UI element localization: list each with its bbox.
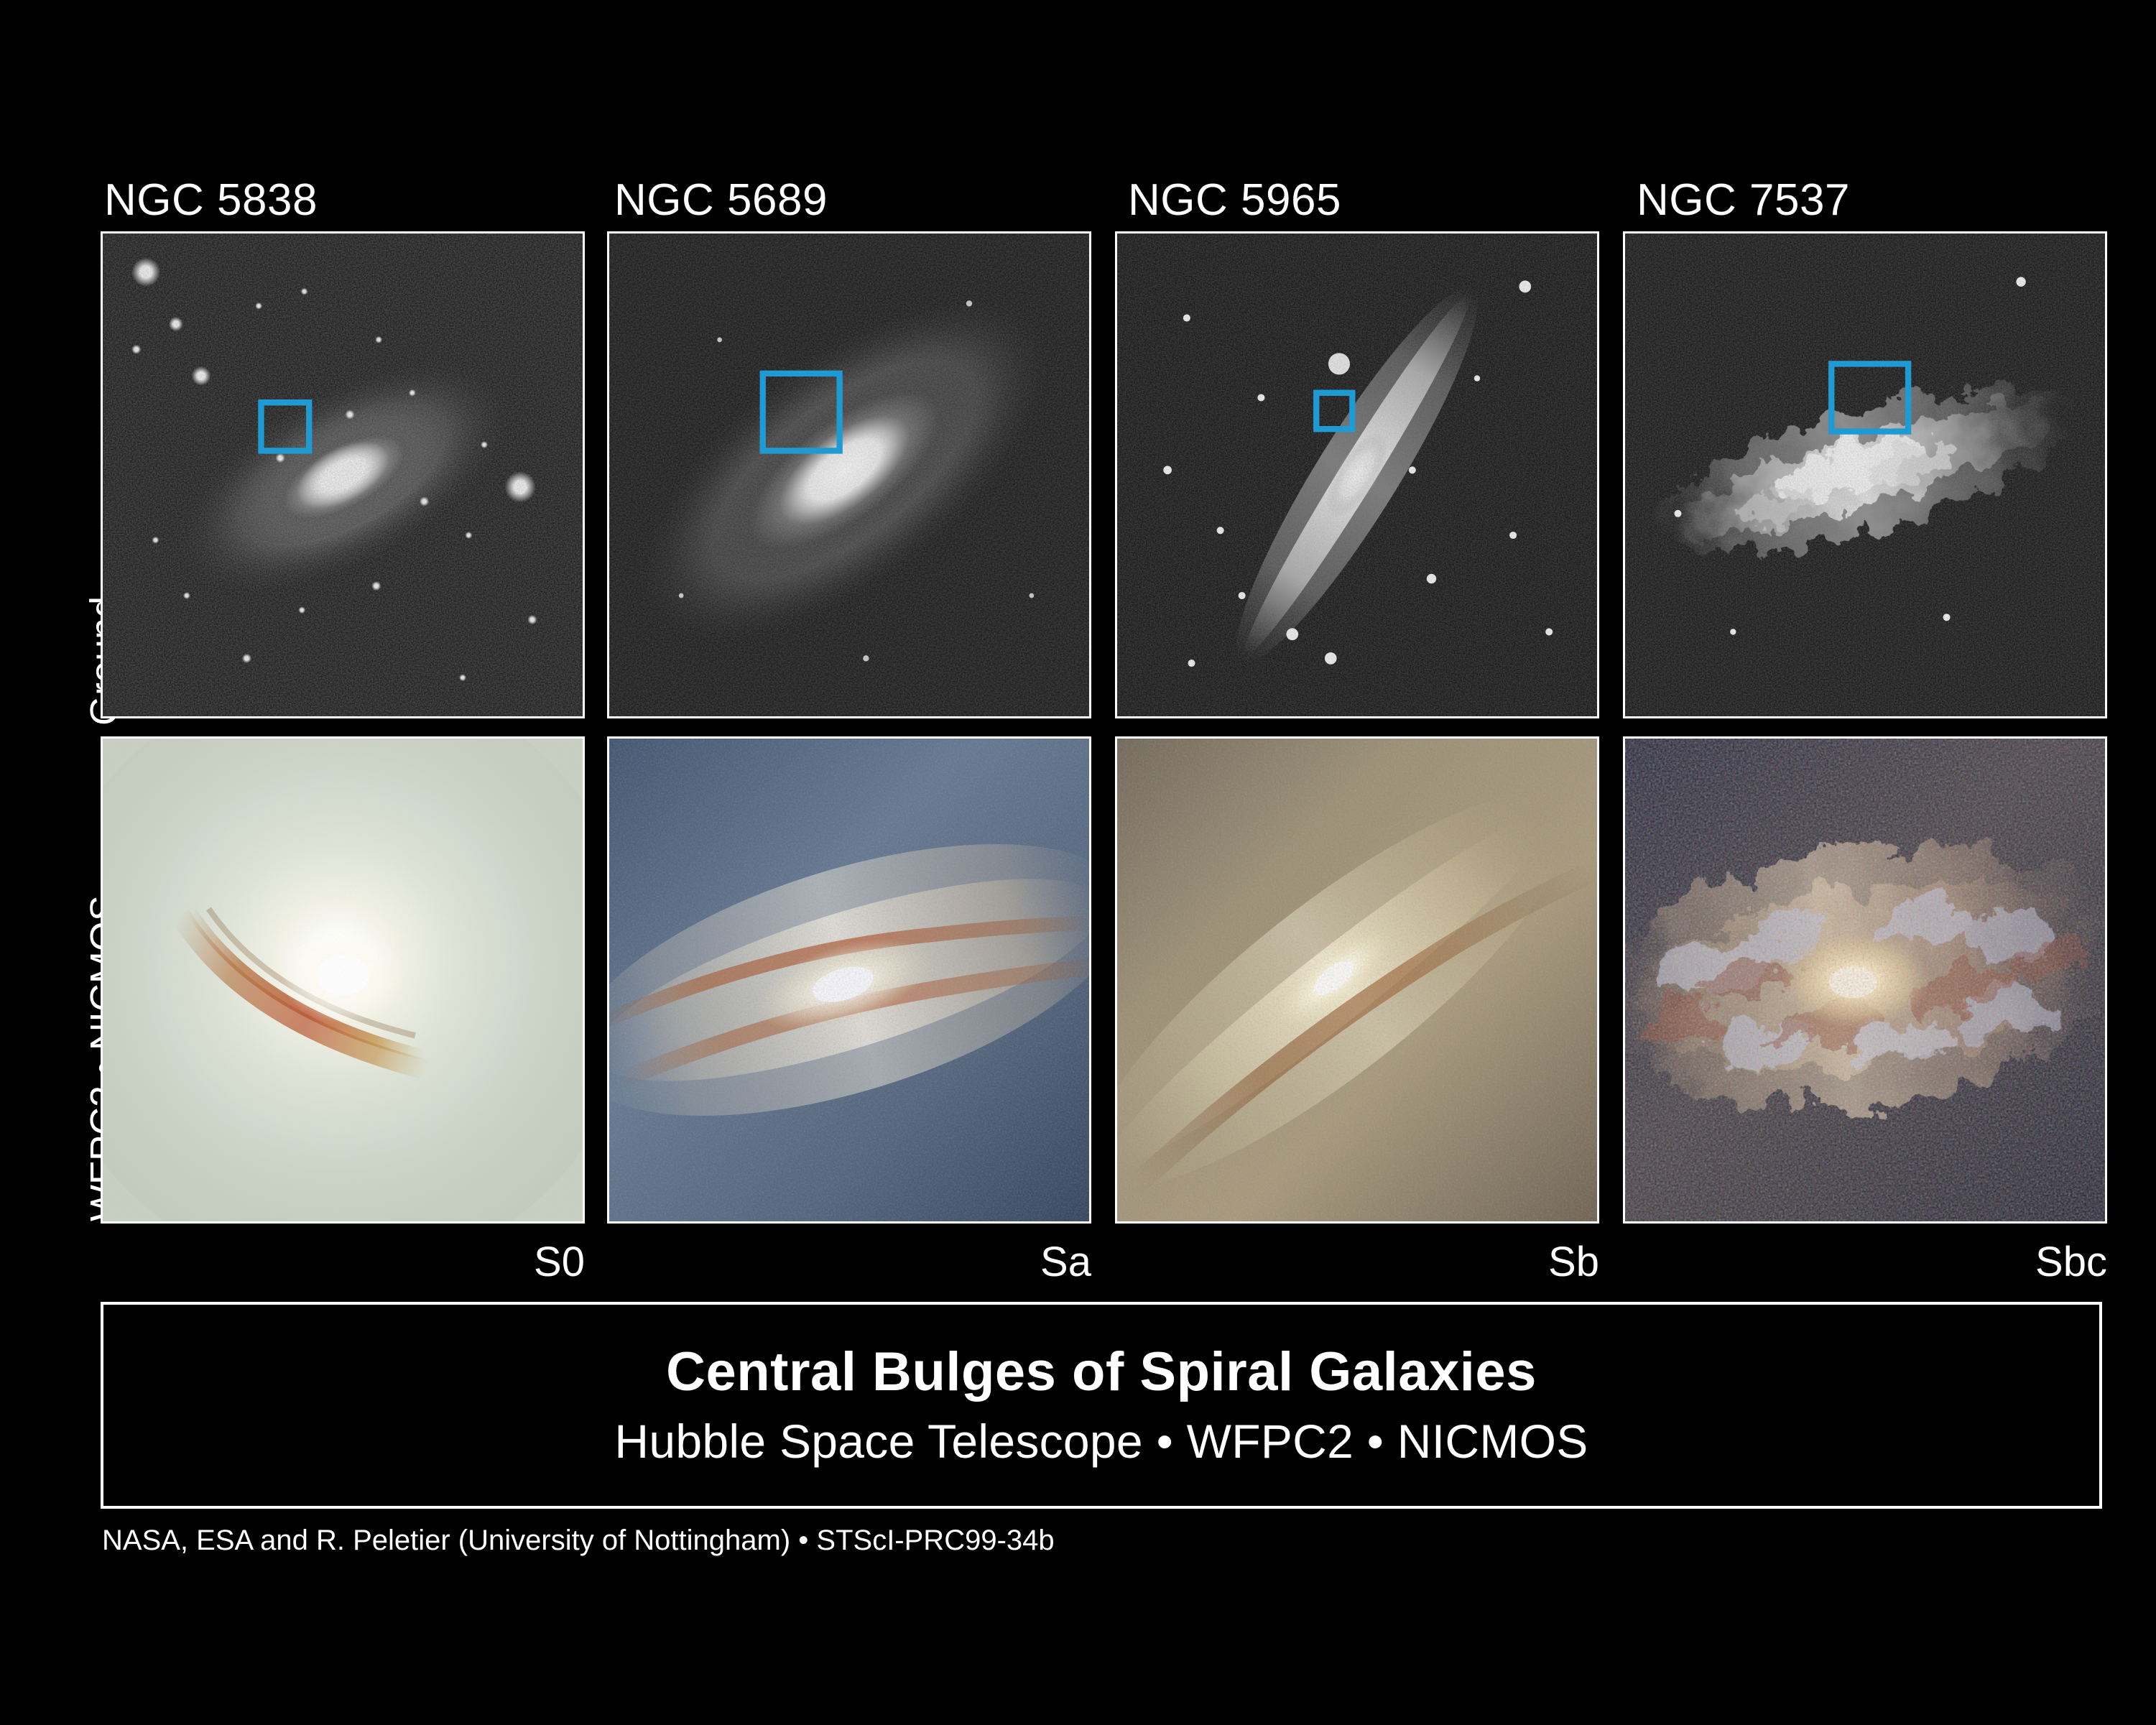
galaxy-name-ngc7537: NGC 7537	[1637, 178, 1850, 223]
caption-title: Central Bulges of Spiral Galaxies	[666, 1341, 1537, 1403]
ground-image-ngc7537[interactable]	[1623, 231, 2107, 718]
galaxy-name-ngc5838: NGC 5838	[104, 178, 318, 223]
ground-image-ngc5838[interactable]	[101, 231, 585, 718]
ground-image-ngc5965[interactable]	[1115, 231, 1599, 718]
hst-image-ngc7537[interactable]	[1623, 736, 2107, 1224]
hubble-type-sb: Sb	[1312, 1241, 1599, 1283]
hst-image-ngc5689[interactable]	[607, 736, 1091, 1224]
caption-subtitle: Hubble Space Telescope • WFPC2 • NICMOS	[614, 1413, 1588, 1470]
hst-image-ngc5965[interactable]	[1115, 736, 1599, 1224]
caption-box: Central Bulges of Spiral Galaxies Hubble…	[101, 1302, 2102, 1509]
galaxy-name-ngc5689: NGC 5689	[614, 178, 828, 223]
hubble-type-sa: Sa	[804, 1241, 1091, 1283]
hst-image-ngc5838[interactable]	[101, 736, 585, 1224]
ground-image-ngc5689[interactable]	[607, 231, 1091, 718]
galaxy-name-ngc5965: NGC 5965	[1128, 178, 1341, 223]
poster-canvas: NGC 5838 NGC 5689 NGC 5965 NGC 7537 Grou…	[0, 0, 2156, 1725]
credit-line: NASA, ESA and R. Peletier (University of…	[102, 1526, 1055, 1555]
hubble-type-s0: S0	[297, 1241, 585, 1283]
hubble-type-sbc: Sbc	[1820, 1241, 2107, 1283]
